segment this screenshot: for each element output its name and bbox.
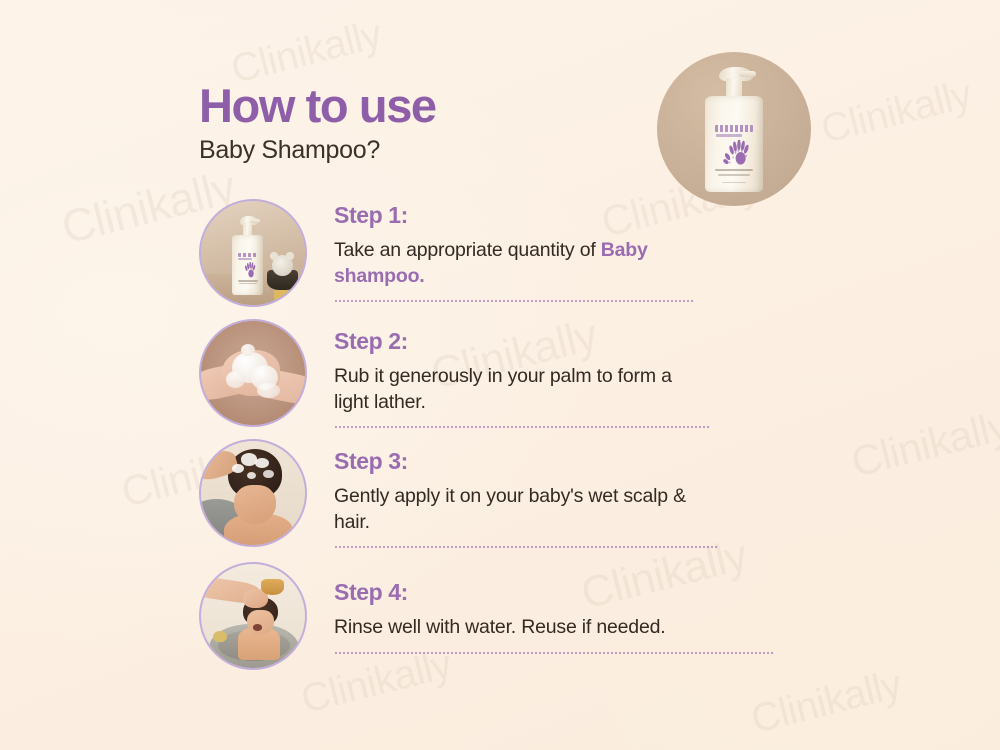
step-2-image xyxy=(199,319,307,427)
step-4-image xyxy=(199,562,307,670)
lather-foam xyxy=(226,371,245,388)
hero-product-circle xyxy=(657,52,811,206)
step-1-heading: Step 1: xyxy=(334,204,694,227)
lavender-flower-icon xyxy=(718,140,752,165)
page-subtitle: Baby Shampoo? xyxy=(199,138,436,163)
watermark-text: Clinikally xyxy=(847,401,1000,486)
step-1-photo xyxy=(201,201,305,305)
baby-mouth xyxy=(253,624,262,630)
bottle-brand-text xyxy=(238,253,258,257)
product-bottle-image xyxy=(705,66,764,192)
bottle-desc-line-1 xyxy=(238,280,258,281)
water-cup xyxy=(261,579,284,596)
bottle-brand-text xyxy=(715,125,752,132)
step-4-photo xyxy=(201,564,305,668)
watermark-text: Clinikally xyxy=(817,72,976,153)
bottle-product-text xyxy=(716,134,742,137)
lather-foam xyxy=(257,383,280,398)
step-2-photo xyxy=(201,321,305,425)
step-3-photo xyxy=(201,441,305,545)
sponge xyxy=(274,290,299,299)
shampoo-bottle xyxy=(232,216,263,295)
baby-face xyxy=(234,485,276,525)
bottle-body xyxy=(705,96,764,192)
bottle-desc-line-2 xyxy=(239,283,256,284)
bottle-product-text xyxy=(238,258,252,260)
step-1-text: Step 1: Take an appropriate quantity of … xyxy=(334,204,694,302)
step-2-text: Step 2: Rub it generously in your palm t… xyxy=(334,330,709,428)
baby-face xyxy=(247,610,274,635)
header: How to use Baby Shampoo? xyxy=(199,82,436,163)
toy-ear-left xyxy=(270,252,277,259)
step-2-body: Rub it generously in your palm to form a… xyxy=(334,364,709,415)
step-3-heading: Step 3: xyxy=(334,450,719,473)
step-1-body: Take an appropriate quantity of Baby sha… xyxy=(334,238,694,289)
bottle-volume-text xyxy=(722,182,745,184)
shampoo-suds xyxy=(255,458,269,468)
step-3-body: Gently apply it on your baby's wet scalp… xyxy=(334,484,719,535)
step-1-body-text: Take an appropriate quantity of xyxy=(334,239,601,261)
step-1-image xyxy=(199,199,307,307)
watermark-text: Clinikally xyxy=(297,642,456,723)
step-4-heading: Step 4: xyxy=(334,581,774,604)
bottle-body xyxy=(232,235,263,295)
bottle-nozzle-icon xyxy=(250,219,259,223)
step-3-image xyxy=(199,439,307,547)
bath-toy xyxy=(272,255,293,276)
bottle-desc-line-1 xyxy=(715,169,752,171)
page-title: How to use xyxy=(199,82,436,129)
step-2-divider xyxy=(334,426,709,428)
step-4-divider xyxy=(334,652,774,654)
step-3-divider xyxy=(334,546,719,548)
bottle-nozzle-icon xyxy=(739,71,757,77)
step-1-divider xyxy=(334,300,694,302)
step-3-text: Step 3: Gently apply it on your baby's w… xyxy=(334,450,719,548)
lavender-flower-icon xyxy=(239,262,257,278)
step-2-heading: Step 2: xyxy=(334,330,709,353)
toy-ear-right xyxy=(286,252,293,259)
shampoo-suds xyxy=(232,464,243,473)
step-4-body: Rinse well with water. Reuse if needed. xyxy=(334,615,774,641)
bottle-desc-line-2 xyxy=(718,174,751,176)
watermark-text: Clinikally xyxy=(747,662,906,743)
rubber-duck xyxy=(213,631,227,642)
step-4-text: Step 4: Rinse well with water. Reuse if … xyxy=(334,581,774,654)
